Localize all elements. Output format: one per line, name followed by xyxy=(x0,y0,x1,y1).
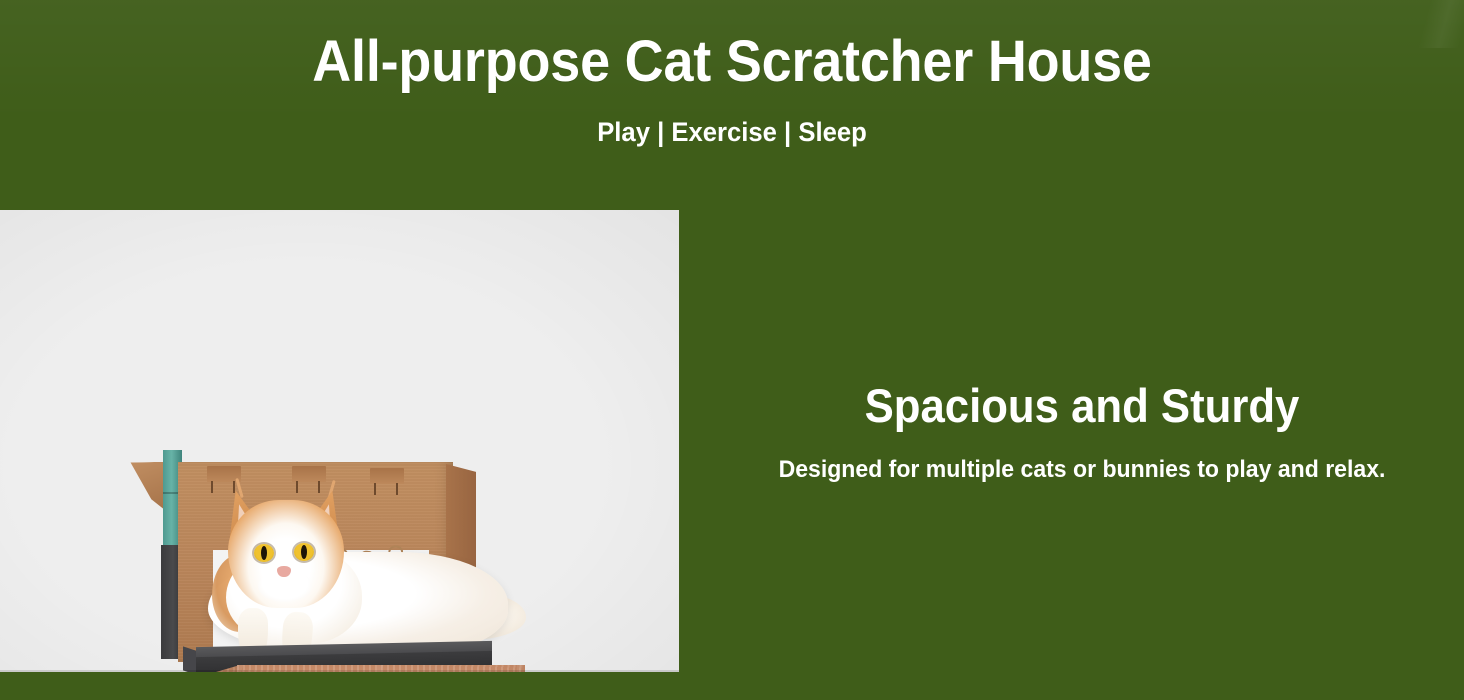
page-subtitle: Play | Exercise | Sleep xyxy=(37,116,1428,148)
cat-eye xyxy=(294,543,314,561)
feature-description: Designed for multiple cats or bunnies to… xyxy=(715,455,1448,485)
cardboard-tab xyxy=(292,466,326,482)
cat-eye xyxy=(254,544,274,562)
product-image-panel xyxy=(0,210,679,672)
cat-house-illustration xyxy=(0,210,679,672)
page-title: All-purpose Cat Scratcher House xyxy=(51,31,1413,93)
box-front-panel xyxy=(237,665,525,672)
cardboard-tab xyxy=(370,468,404,484)
box-highlight-streaks xyxy=(237,665,525,672)
feature-heading: Spacious and Sturdy xyxy=(727,378,1438,434)
promo-banner: All-purpose Cat Scratcher House Play | E… xyxy=(0,0,1464,700)
